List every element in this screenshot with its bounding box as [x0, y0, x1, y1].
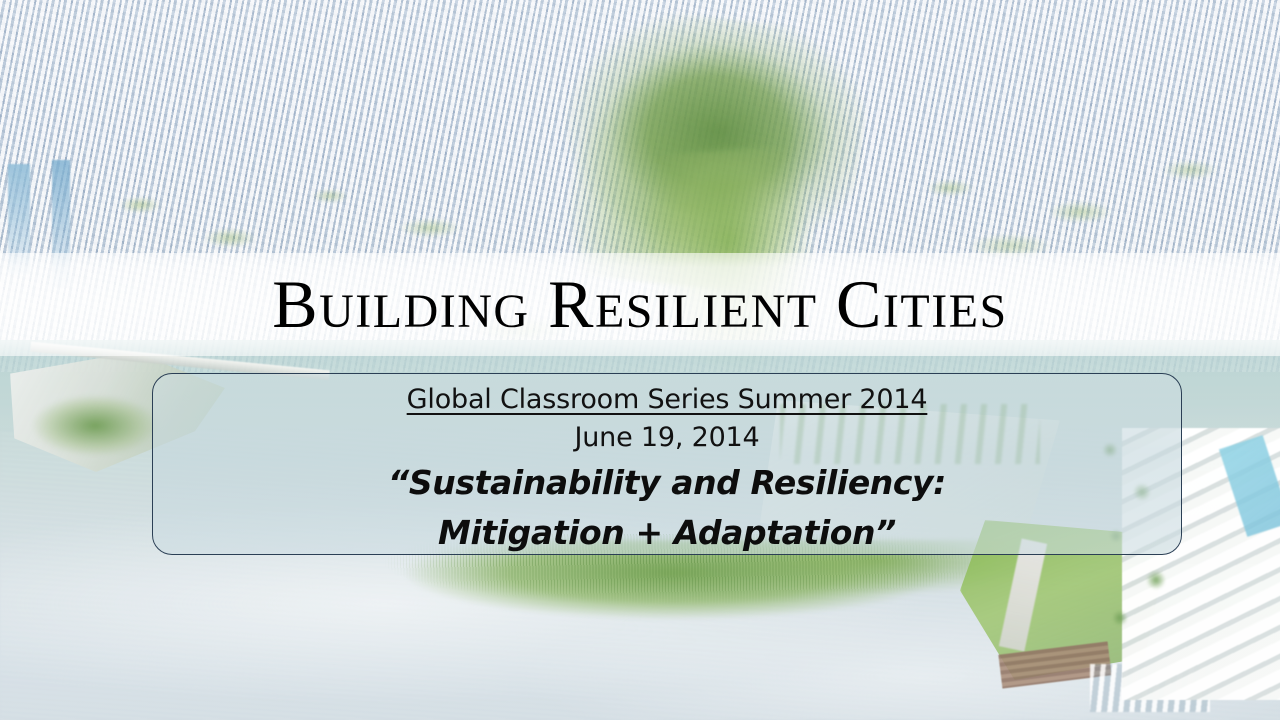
- theme-quote-line-2: Mitigation + Adaptation”: [153, 508, 1181, 555]
- subtitle-box: Global Classroom Series Summer 2014 June…: [152, 373, 1182, 555]
- right-pool: [1219, 435, 1280, 537]
- marina-dock: [998, 641, 1111, 688]
- moored-boats: [1090, 664, 1210, 712]
- marsh-reeds: [300, 540, 1020, 650]
- atmospheric-haze: [0, 0, 1280, 720]
- background-base: [0, 0, 1280, 720]
- date-label: June 19, 2014: [153, 418, 1181, 458]
- presentation-slide: Building Resilient Cities Global Classro…: [0, 0, 1280, 720]
- theme-quote-line-1: “Sustainability and Resiliency:: [153, 458, 1181, 508]
- page-title: Building Resilient Cities: [0, 258, 1280, 350]
- marina-walkway: [999, 538, 1047, 651]
- series-label: Global Classroom Series Summer 2014: [153, 382, 1181, 418]
